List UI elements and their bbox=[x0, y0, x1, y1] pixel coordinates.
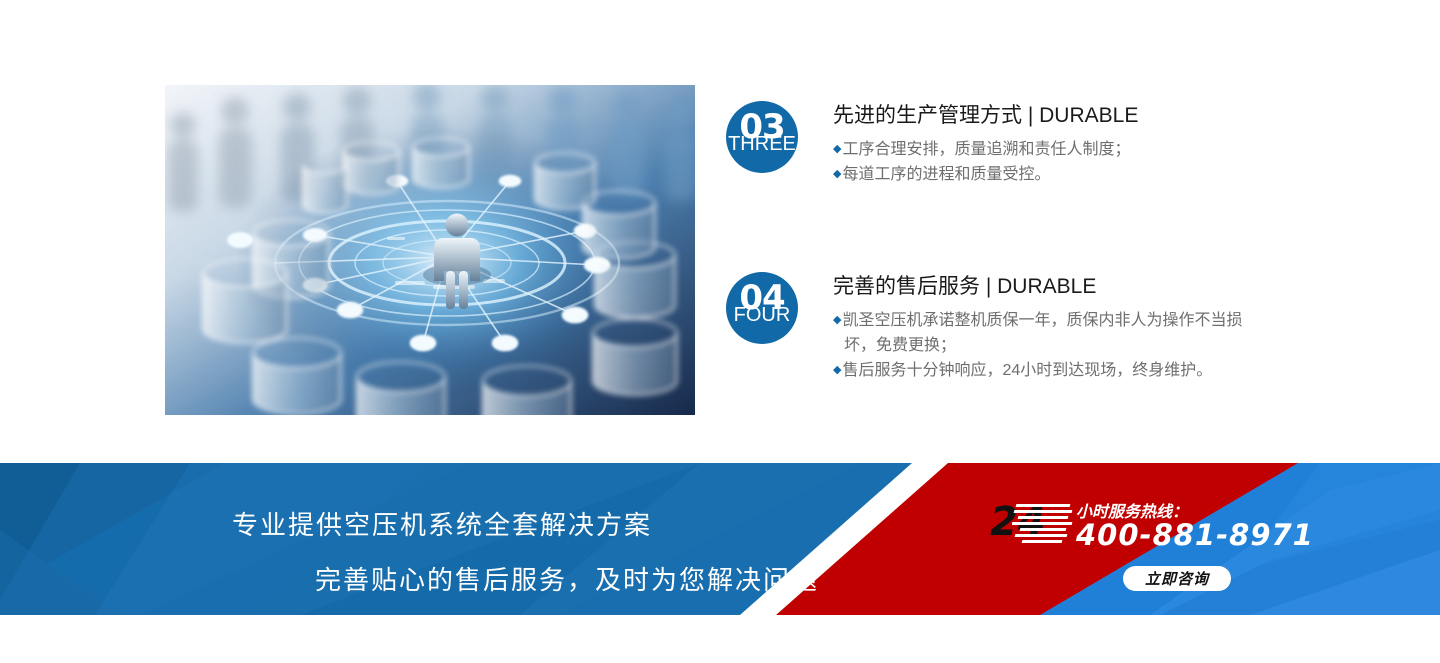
diamond-bullet-icon: ◆ bbox=[833, 143, 841, 155]
feature-bullet-text: 凯圣空压机承诺整机质保一年，质保内非人为操作不当损坏，免费更换； bbox=[842, 312, 1242, 354]
hotline-block: 24 小时服务热线： 400-881-8971 bbox=[990, 498, 1270, 568]
feature-title: 完善的售后服务 | DURABLE bbox=[833, 274, 1243, 300]
diamond-bullet-icon: ◆ bbox=[833, 168, 841, 180]
feature-bullet-list: ◆工序合理安排，质量追溯和责任人制度； ◆每道工序的进程和质量受控。 bbox=[833, 138, 1138, 188]
feature-text-04: 完善的售后服务 | DURABLE ◆凯圣空压机承诺整机质保一年，质保内非人为操… bbox=[833, 272, 1243, 384]
speed-streaks-icon bbox=[1012, 502, 1082, 544]
feature-bullet-list: ◆凯圣空压机承诺整机质保一年，质保内非人为操作不当损坏，免费更换； ◆售后服务十… bbox=[833, 309, 1243, 383]
badge-03: 03 THREE bbox=[726, 101, 798, 173]
network-concept-photo bbox=[165, 85, 695, 415]
feature-bullet: ◆每道工序的进程和质量受控。 bbox=[833, 163, 1138, 188]
diamond-bullet-icon: ◆ bbox=[833, 314, 841, 326]
feature-bullet: ◆工序合理安排，质量追溯和责任人制度； bbox=[833, 138, 1138, 163]
consult-now-button[interactable]: 立即咨询 bbox=[1123, 566, 1231, 591]
feature-text-03: 先进的生产管理方式 | DURABLE ◆工序合理安排，质量追溯和责任人制度； … bbox=[833, 101, 1138, 188]
feature-title: 先进的生产管理方式 | DURABLE bbox=[833, 103, 1138, 129]
feature-block-04: 04 FOUR 完善的售后服务 | DURABLE ◆凯圣空压机承诺整机质保一年… bbox=[726, 272, 1243, 384]
badge-word: THREE bbox=[726, 134, 798, 154]
badge-04: 04 FOUR bbox=[726, 272, 798, 344]
feature-bullet: ◆凯圣空压机承诺整机质保一年，质保内非人为操作不当损坏，免费更换； bbox=[833, 309, 1243, 359]
diamond-bullet-icon: ◆ bbox=[833, 364, 841, 376]
badge-word: FOUR bbox=[726, 305, 798, 325]
feature-bullet: ◆售后服务十分钟响应，24小时到达现场，终身维护。 bbox=[833, 359, 1243, 384]
feature-bullet-text: 工序合理安排，质量追溯和责任人制度； bbox=[842, 141, 1130, 158]
page-root: 03 THREE 先进的生产管理方式 | DURABLE ◆工序合理安排，质量追… bbox=[0, 0, 1440, 663]
hotline-number: 400-881-8971 bbox=[1076, 518, 1314, 552]
photo-illustration bbox=[165, 85, 695, 415]
feature-block-03: 03 THREE 先进的生产管理方式 | DURABLE ◆工序合理安排，质量追… bbox=[726, 101, 1138, 188]
feature-bullet-text: 售后服务十分钟响应，24小时到达现场，终身维护。 bbox=[842, 362, 1212, 379]
consult-now-label: 立即咨询 bbox=[1145, 568, 1209, 589]
feature-bullet-text: 每道工序的进程和质量受控。 bbox=[842, 166, 1050, 183]
